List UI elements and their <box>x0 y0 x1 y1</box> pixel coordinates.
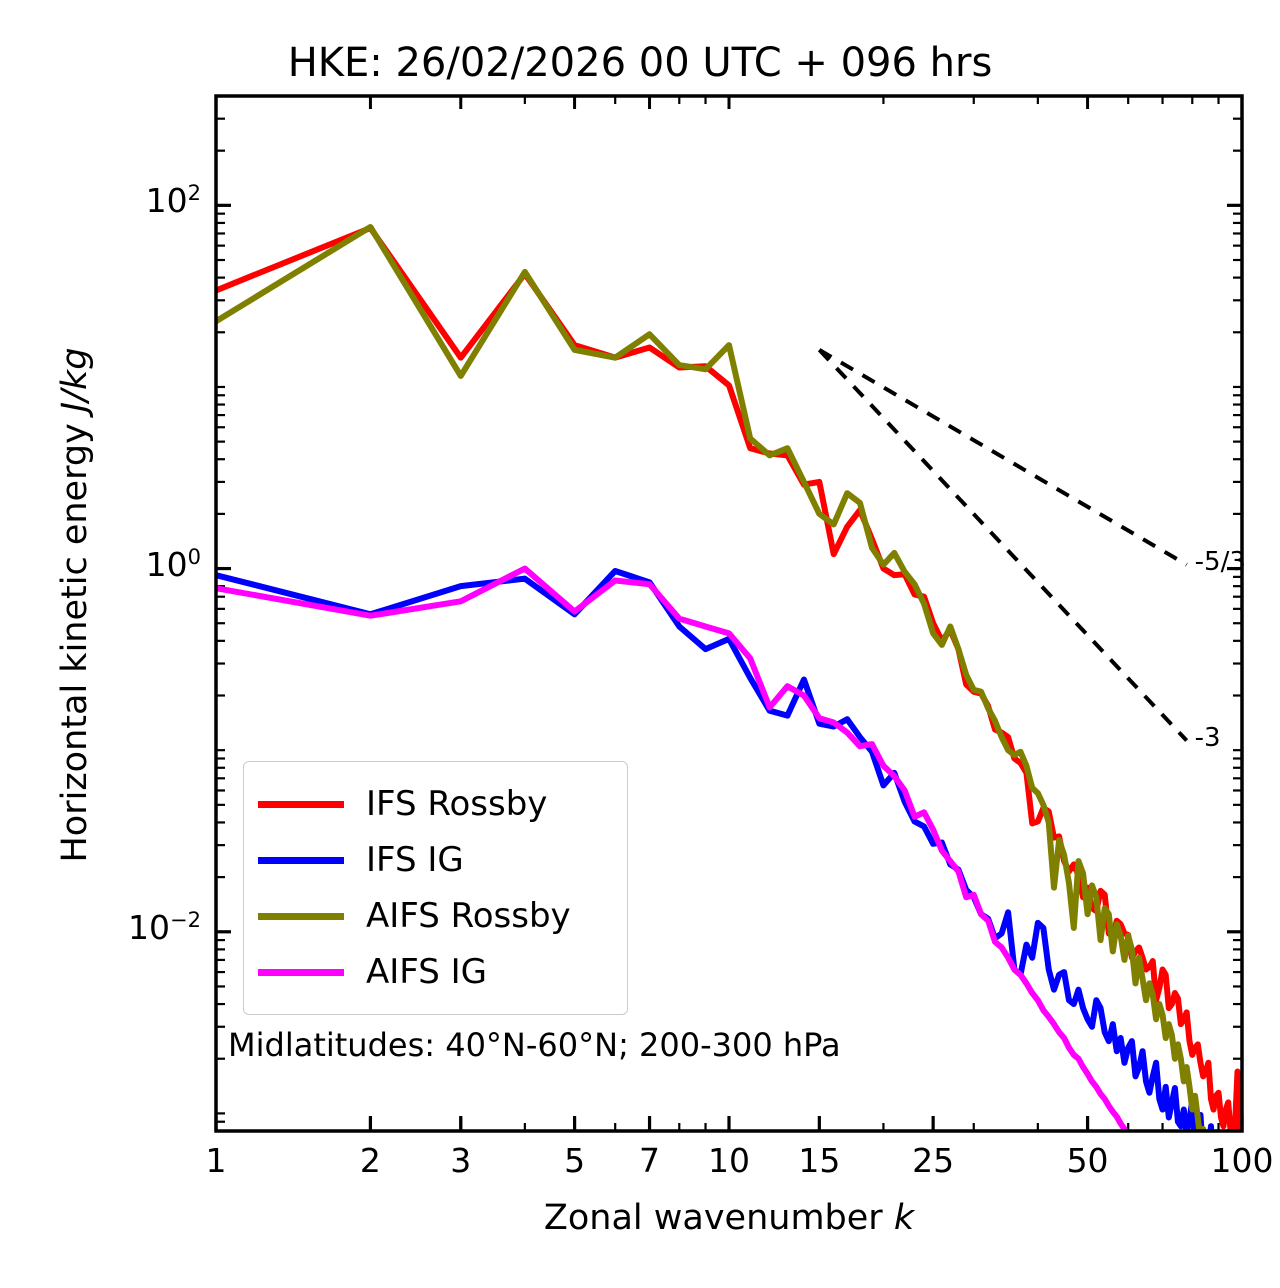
x-tick-label: 100 <box>1182 1141 1280 1180</box>
legend-label: IFS Rossby <box>366 784 547 824</box>
y-tick-label: 10−2 <box>6 908 201 947</box>
legend-label: AIFS IG <box>366 952 487 992</box>
legend-label: AIFS Rossby <box>366 896 571 936</box>
legend-item-ifs-rossby[interactable]: IFS Rossby <box>258 776 611 832</box>
slope-label: -3 <box>1195 723 1221 753</box>
x-tick-label: 25 <box>873 1141 993 1180</box>
legend-label: IFS IG <box>366 840 464 880</box>
legend-item-aifs-rossby[interactable]: AIFS Rossby <box>258 888 611 944</box>
x-tick-label: 3 <box>401 1141 521 1180</box>
legend-color-swatch <box>258 801 344 808</box>
y-tick-label: 100 <box>6 545 201 584</box>
region-annotation: Midlatitudes: 40°N-60°N; 200-300 hPa <box>228 1026 841 1064</box>
x-tick-label: 15 <box>759 1141 879 1180</box>
legend-item-aifs-ig[interactable]: AIFS IG <box>258 944 611 1000</box>
x-tick-label: 50 <box>1028 1141 1148 1180</box>
slope-label: -5/3 <box>1195 547 1246 577</box>
x-tick-label: 1 <box>156 1141 276 1180</box>
legend-color-swatch <box>258 969 344 976</box>
y-tick-label: 102 <box>6 181 201 220</box>
legend-color-swatch <box>258 857 344 864</box>
chart-legend: IFS RossbyIFS IGAIFS RossbyAIFS IG <box>243 761 628 1015</box>
legend-item-ifs-ig[interactable]: IFS IG <box>258 832 611 888</box>
legend-color-swatch <box>258 913 344 920</box>
chart-figure: HKE: 26/02/2026 00 UTC + 096 hrs Horizon… <box>0 0 1280 1288</box>
